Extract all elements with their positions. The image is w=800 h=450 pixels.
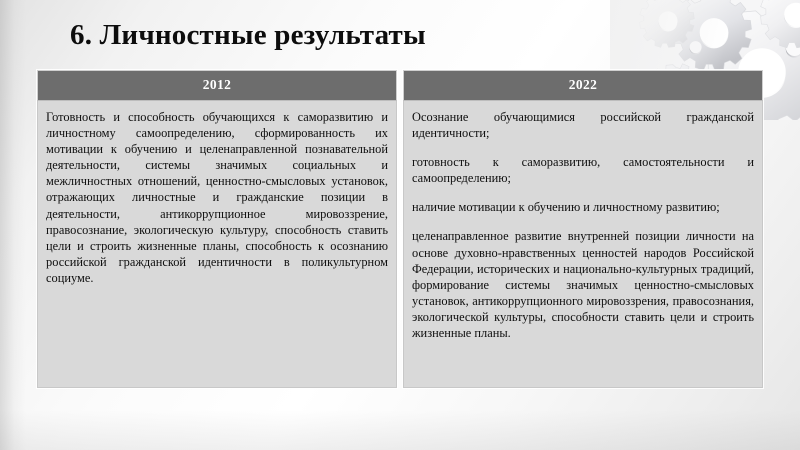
cell-paragraph: Готовность и способность обучающихся к с… bbox=[46, 109, 388, 286]
cell-paragraph: готовность к саморазвитию, самостоятельн… bbox=[412, 154, 754, 186]
table-column-2012: 2012 Готовность и способность обучающихс… bbox=[37, 70, 397, 388]
column-header-2012: 2012 bbox=[37, 70, 397, 100]
cell-paragraph: Осознание обучающимися российской гражда… bbox=[412, 109, 754, 141]
cell-paragraph: наличие мотивации к обучению и личностно… bbox=[412, 199, 754, 215]
table-cell-2022: Осознание обучающимися российской гражда… bbox=[403, 100, 763, 388]
cell-paragraph: целенаправленное развитие внутренней поз… bbox=[412, 228, 754, 341]
slide-canvas: 6. Личностные результаты 2012 Готовность… bbox=[0, 0, 800, 450]
left-edge-shading bbox=[0, 0, 26, 450]
table-cell-2012: Готовность и способность обучающихся к с… bbox=[37, 100, 397, 388]
bottom-edge-shading bbox=[0, 410, 800, 450]
table-column-2022: 2022 Осознание обучающимися российской г… bbox=[403, 70, 763, 388]
comparison-table: 2012 Готовность и способность обучающихс… bbox=[37, 70, 763, 388]
page-title: 6. Личностные результаты bbox=[70, 18, 426, 53]
column-header-2022: 2022 bbox=[403, 70, 763, 100]
